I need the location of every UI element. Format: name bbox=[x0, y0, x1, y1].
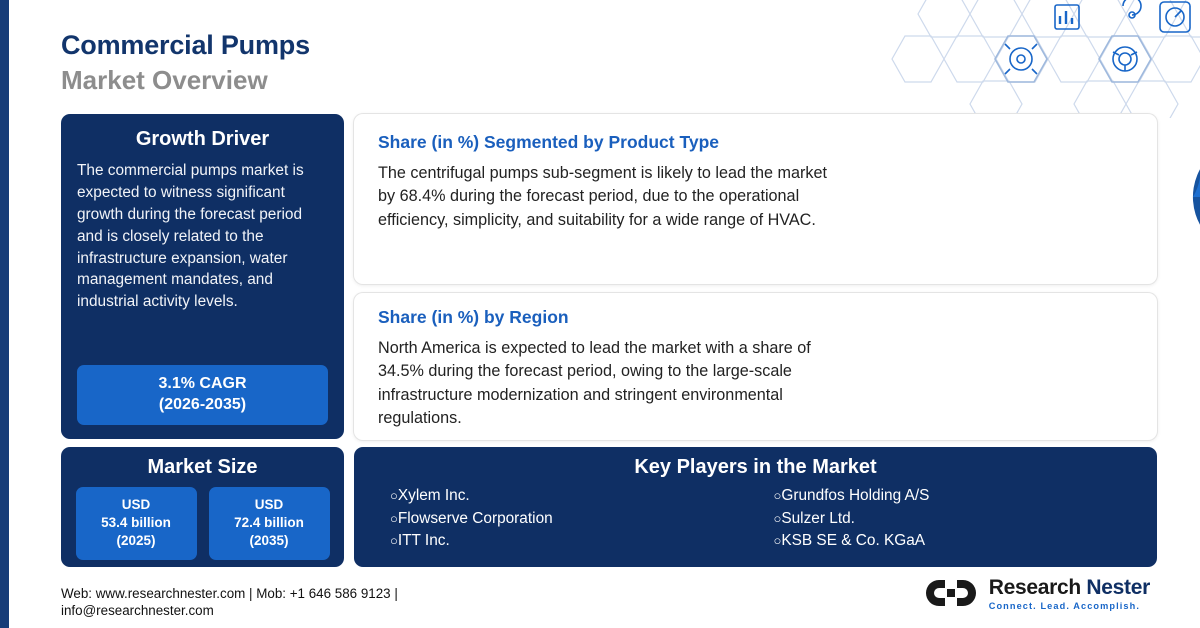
brand-name: Research Nester bbox=[989, 576, 1150, 600]
market-size-currency-2025: USD bbox=[78, 496, 195, 514]
cagr-period: (2026-2035) bbox=[81, 395, 324, 416]
growth-driver-text: The commercial pumps market is expected … bbox=[77, 160, 328, 313]
brand-name-part2: Nester bbox=[1086, 576, 1150, 599]
market-size-value-2025: 53.4 billion bbox=[78, 514, 195, 532]
key-players-heading: Key Players in the Market bbox=[354, 456, 1157, 479]
list-item: ○KSB SE & Co. KGaA bbox=[774, 530, 1158, 553]
list-item: ○Flowserve Corporation bbox=[390, 508, 774, 531]
player-name: KSB SE & Co. KGaA bbox=[781, 532, 925, 549]
region-card: Share (in %) by Region North America is … bbox=[354, 293, 1157, 440]
product-type-heading: Share (in %) Segmented by Product Type bbox=[378, 132, 1157, 153]
region-text: North America is expected to lead the ma… bbox=[378, 337, 838, 430]
research-nester-mark-icon bbox=[922, 574, 980, 612]
market-size-value-2035: 72.4 billion bbox=[211, 514, 328, 532]
brand-tagline: Connect. Lead. Accomplish. bbox=[989, 601, 1150, 611]
key-players-column-left: ○Xylem Inc. ○Flowserve Corporation ○ITT … bbox=[390, 485, 774, 553]
market-size-box-2025: USD 53.4 billion (2025) bbox=[76, 487, 197, 560]
market-size-panel: Market Size USD 53.4 billion (2025) USD … bbox=[61, 447, 344, 567]
title-line-1: Commercial Pumps bbox=[61, 30, 310, 61]
product-type-pie-chart: 68.4% bbox=[1189, 132, 1200, 267]
infographic-page: Commercial Pumps Market Overview Growth … bbox=[0, 0, 1200, 628]
player-name: Grundfos Holding A/S bbox=[781, 487, 929, 504]
brand-text: Research Nester Connect. Lead. Accomplis… bbox=[989, 576, 1150, 611]
player-name: Sulzer Ltd. bbox=[781, 510, 855, 527]
footer-line-1: Web: www.researchnester.com | Mob: +1 64… bbox=[61, 585, 398, 603]
list-item: ○Xylem Inc. bbox=[390, 485, 774, 508]
player-name: ITT Inc. bbox=[398, 532, 450, 549]
list-item: ○ITT Inc. bbox=[390, 530, 774, 553]
cagr-value: 3.1% CAGR bbox=[81, 374, 324, 395]
brand-logo: Research Nester Connect. Lead. Accomplis… bbox=[922, 574, 1150, 612]
market-size-box-2035: USD 72.4 billion (2035) bbox=[209, 487, 330, 560]
list-item: ○Sulzer Ltd. bbox=[774, 508, 1158, 531]
key-players-panel: Key Players in the Market ○Xylem Inc. ○F… bbox=[354, 447, 1157, 567]
growth-driver-panel: Growth Driver The commercial pumps marke… bbox=[61, 114, 344, 439]
footer-contact: Web: www.researchnester.com | Mob: +1 64… bbox=[61, 585, 398, 620]
circle-bullet-icon: ○ bbox=[390, 511, 398, 526]
product-type-card: Share (in %) Segmented by Product Type T… bbox=[354, 114, 1157, 284]
product-type-text: The centrifugal pumps sub-segment is lik… bbox=[378, 162, 838, 232]
growth-driver-heading: Growth Driver bbox=[77, 128, 328, 151]
circle-bullet-icon: ○ bbox=[390, 533, 398, 548]
market-size-year-2025: (2025) bbox=[78, 532, 195, 550]
circle-bullet-icon: ○ bbox=[390, 488, 398, 503]
market-size-year-2035: (2035) bbox=[211, 532, 328, 550]
cagr-badge: 3.1% CAGR (2026-2035) bbox=[77, 365, 328, 425]
market-size-heading: Market Size bbox=[73, 456, 332, 479]
footer-line-2: info@researchnester.com bbox=[61, 602, 398, 620]
title-line-2: Market Overview bbox=[61, 65, 310, 96]
region-heading: Share (in %) by Region bbox=[378, 307, 1157, 328]
key-players-column-right: ○Grundfos Holding A/S ○Sulzer Ltd. ○KSB … bbox=[774, 485, 1158, 553]
list-item: ○Grundfos Holding A/S bbox=[774, 485, 1158, 508]
page-title: Commercial Pumps Market Overview bbox=[61, 30, 310, 96]
hexagon-decoration bbox=[870, 0, 1200, 118]
player-name: Flowserve Corporation bbox=[398, 510, 553, 527]
player-name: Xylem Inc. bbox=[398, 487, 470, 504]
brand-name-part1: Research bbox=[989, 576, 1087, 599]
market-size-currency-2035: USD bbox=[211, 496, 328, 514]
